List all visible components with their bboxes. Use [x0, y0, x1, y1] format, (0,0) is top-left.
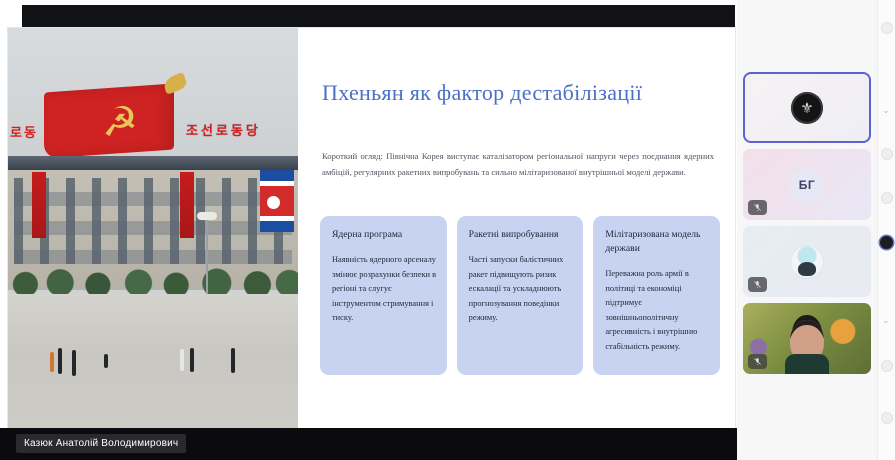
korean-signage-left: 로동	[10, 122, 38, 141]
slide-card-title: Ракетні випробування	[469, 228, 574, 242]
slide-content: Пхеньян як фактор дестабілізації Коротки…	[298, 28, 735, 428]
chevron-down-icon[interactable]: ⌄	[882, 316, 890, 326]
screenshare-top-bar	[22, 5, 735, 27]
avatar: БГ	[790, 168, 824, 202]
photo-street-lamp	[206, 218, 208, 304]
participants-rail[interactable]: ⚜ БГ	[737, 0, 877, 460]
photo-roofline	[8, 156, 298, 170]
panel-avatar-icon[interactable]	[881, 148, 893, 160]
photo-pedestrian	[231, 348, 235, 373]
participant-tile-image-avatar[interactable]	[743, 226, 871, 297]
korean-signage-right: 조선로동당	[186, 120, 261, 139]
presenter-name-chip: Казюк Анатолій Володимирович	[16, 434, 186, 453]
trident-emblem-icon: ⚜	[791, 92, 823, 124]
north-korea-flag-banner	[260, 170, 294, 232]
photo-red-banner	[32, 172, 46, 238]
secondary-panel-edge[interactable]: ⌄ ⌄	[877, 0, 895, 460]
panel-avatar-icon[interactable]	[881, 192, 893, 204]
slide-card-text: Переважна роль армії в політиці та еконо…	[605, 267, 710, 354]
photo-pedestrian	[72, 350, 76, 376]
panel-avatar-icon[interactable]	[881, 412, 893, 424]
slide-card-text: Наявність ядерного арсеналу змінює розра…	[332, 253, 437, 326]
avatar	[790, 245, 824, 279]
participant-video-face	[790, 320, 824, 362]
slide-title: Пхеньян як фактор дестабілізації	[322, 80, 712, 106]
photo-red-banner	[180, 172, 194, 238]
slide-lead-paragraph: Короткий огляд: Північна Корея виступає …	[322, 148, 714, 180]
photo-pedestrian	[58, 348, 62, 374]
slide-card: Ядерна програма Наявність ядерного арсен…	[320, 216, 447, 375]
photo-pedestrian	[104, 354, 108, 368]
slide-card: Мілітаризована модель держави Переважна …	[593, 216, 720, 375]
slide-card: Ракетні випробування Часті запуски баліс…	[457, 216, 584, 375]
mic-muted-icon	[748, 277, 767, 292]
participant-tile-emblem[interactable]: ⚜	[743, 72, 871, 143]
chevron-down-icon[interactable]: ⌄	[882, 106, 890, 116]
slide-card-title: Мілітаризована модель держави	[605, 228, 710, 256]
photo-plaza	[8, 294, 298, 428]
slide-card-title: Ядерна програма	[332, 228, 437, 242]
photo-building-windows	[14, 178, 292, 264]
photo-pedestrian	[50, 352, 54, 372]
mic-muted-icon	[748, 200, 767, 215]
shared-screen-stage[interactable]: ☭ 조선로동당 로동	[0, 0, 737, 460]
slide-cards: Ядерна програма Наявність ядерного арсен…	[320, 216, 720, 375]
participant-tile-initials[interactable]: БГ	[743, 149, 871, 220]
panel-avatar-icon[interactable]	[881, 22, 893, 34]
panel-avatar-icon[interactable]	[881, 360, 893, 372]
slide-card-text: Часті запуски балістичних ракет підвищую…	[469, 253, 574, 326]
photo-tree-line	[8, 264, 298, 298]
photo-pedestrian	[180, 349, 184, 371]
meeting-screen: ☭ 조선로동당 로동	[0, 0, 895, 460]
workers-party-flag: ☭	[44, 83, 174, 158]
pyongyang-square-photo: ☭ 조선로동당 로동	[8, 28, 298, 428]
presentation-slide: ☭ 조선로동당 로동	[8, 28, 735, 428]
mic-muted-icon	[748, 354, 767, 369]
participant-tile-video[interactable]	[743, 303, 871, 374]
hammer-sickle-brush-icon: ☭	[98, 100, 142, 147]
photo-pedestrian	[190, 348, 194, 372]
panel-active-avatar-icon[interactable]	[880, 236, 893, 249]
